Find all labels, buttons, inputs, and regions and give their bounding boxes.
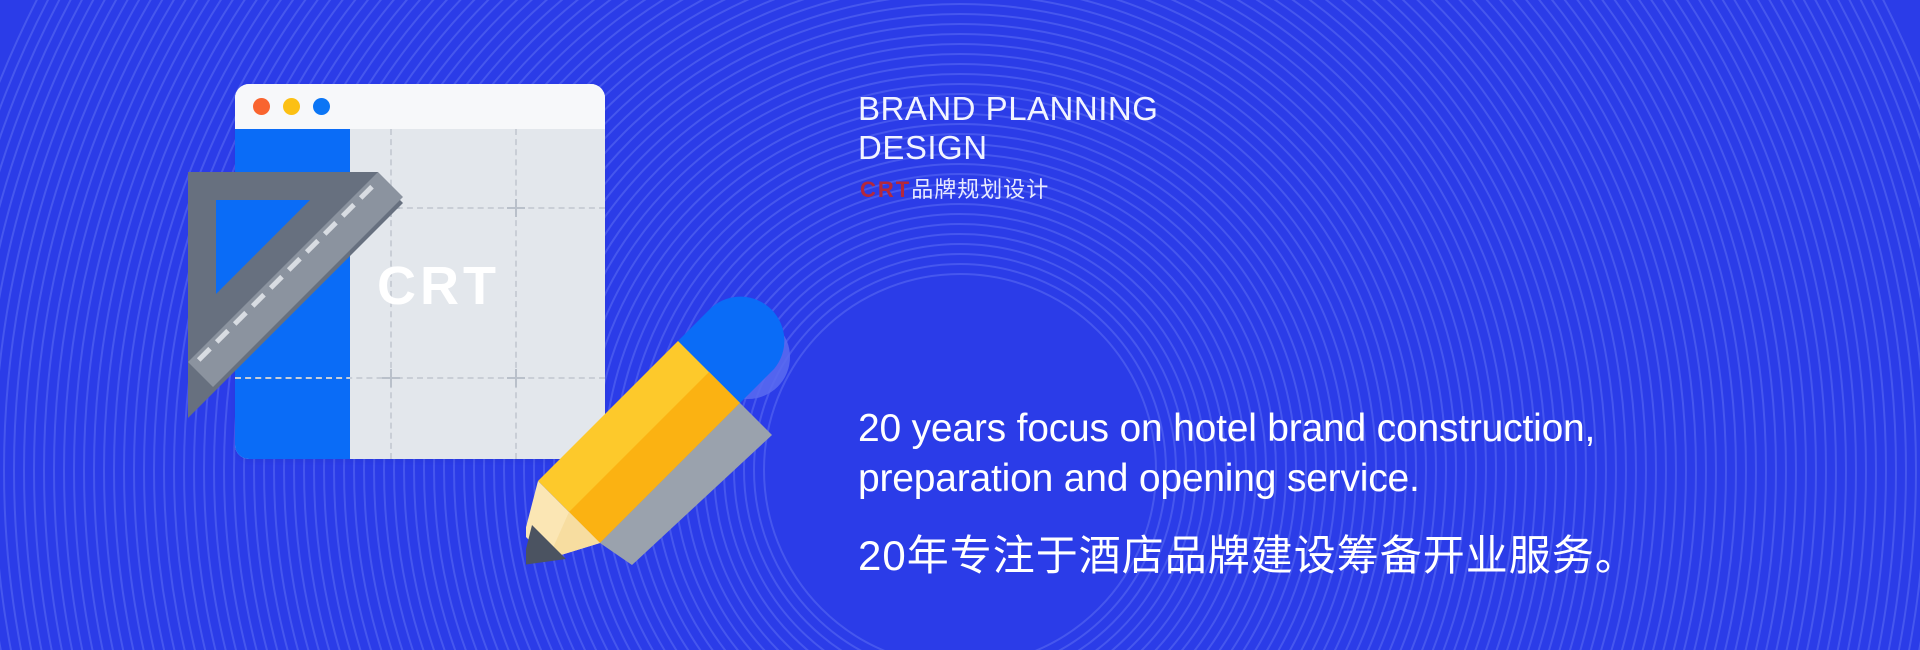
- pencil-icon: [526, 275, 816, 565]
- banner-subheading: CRT品牌规划设计: [860, 172, 1049, 204]
- design-illustration: CRT: [188, 60, 828, 590]
- tagline-english: 20 years focus on hotel brand constructi…: [858, 404, 1798, 504]
- banner-text-column: BRAND PLANNING DESIGN CRT品牌规划设计 20 years…: [858, 0, 1878, 650]
- registration-mark-icon: [507, 199, 525, 217]
- window-title-bar: [235, 84, 605, 129]
- banner-heading: BRAND PLANNING DESIGN: [858, 90, 1158, 168]
- minimize-dot-icon[interactable]: [283, 98, 300, 115]
- promo-banner: CRT: [0, 0, 1920, 650]
- subheading-chinese: 品牌规划设计: [911, 177, 1049, 202]
- triangle-ruler-icon: [188, 172, 438, 432]
- registration-mark-icon: [507, 369, 525, 387]
- close-dot-icon[interactable]: [253, 98, 270, 115]
- brand-name-crt: CRT: [860, 177, 911, 202]
- maximize-dot-icon[interactable]: [313, 98, 330, 115]
- tagline-chinese: 20年专注于酒店品牌建设筹备开业服务。: [858, 522, 1638, 583]
